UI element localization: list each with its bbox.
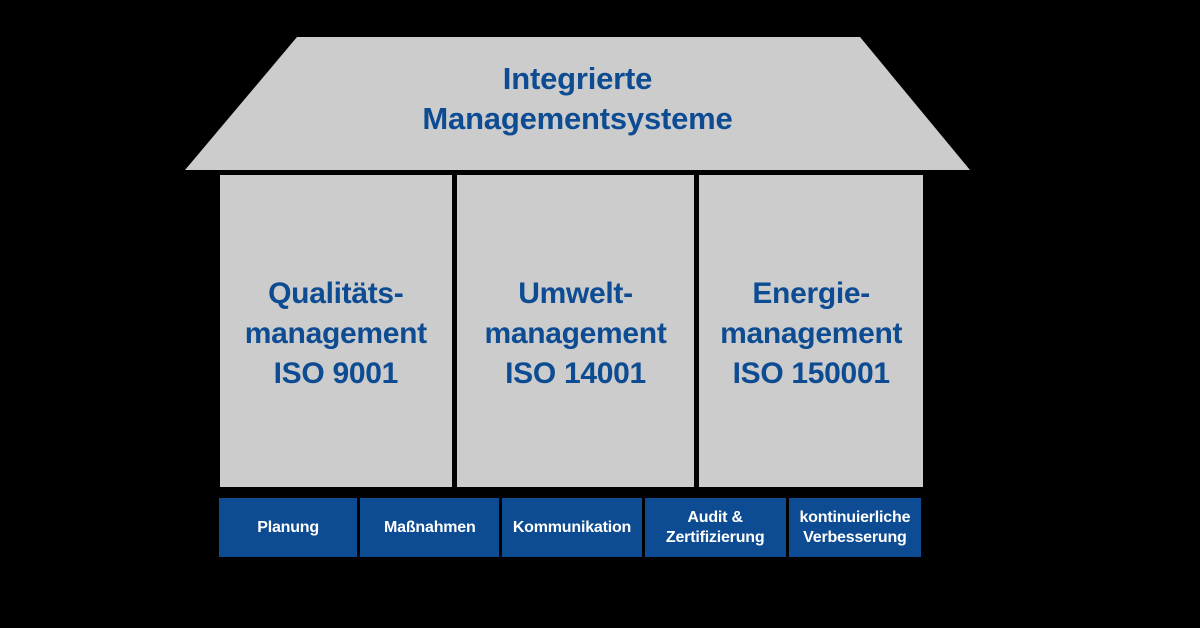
roof-group: Integrierte Managementsysteme <box>185 37 970 170</box>
foundation-block-planung[interactable]: Planung <box>218 497 358 558</box>
pillar-environment[interactable]: Umwelt- management ISO 14001 <box>455 173 697 489</box>
pillar-quality[interactable]: Qualitäts- management ISO 9001 <box>218 173 454 489</box>
pillar-label: Qualitäts- management ISO 9001 <box>245 274 427 394</box>
pillar-label: Energie- management ISO 150001 <box>720 274 902 394</box>
foundation-block-audit-zertifizierung[interactable]: Audit & Zertifizierung <box>644 497 787 558</box>
pillars-group: Qualitäts- management ISO 9001 Umwelt- m… <box>218 173 925 489</box>
foundation-block-kommunikation[interactable]: Kommunikation <box>501 497 642 558</box>
pillar-energy[interactable]: Energie- management ISO 150001 <box>697 173 925 489</box>
foundation-group: Planung Maßnahmen Kommunikation Audit & … <box>218 497 922 558</box>
diagram-canvas: Integrierte Managementsysteme Qualitäts-… <box>0 0 1200 628</box>
pillar-label: Umwelt- management ISO 14001 <box>484 274 666 394</box>
foundation-block-kontinuierliche-verbesserung[interactable]: kontinuierliche Verbesserung <box>788 497 922 558</box>
foundation-block-massnahmen[interactable]: Maßnahmen <box>359 497 500 558</box>
roof-title: Integrierte Managementsysteme <box>185 59 970 139</box>
